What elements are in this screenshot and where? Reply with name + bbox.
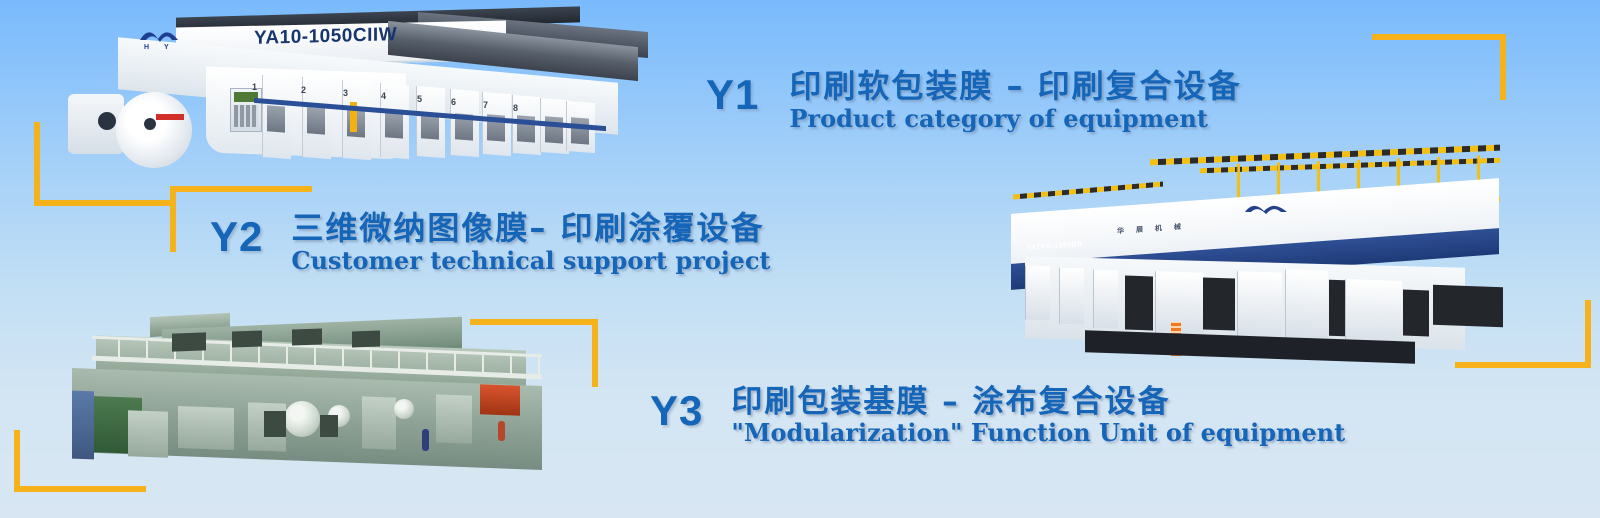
bracket-top-right-vertical — [1500, 34, 1506, 100]
svg-text:Y: Y — [164, 44, 169, 50]
bracket-photo3-top-vertical — [592, 319, 598, 387]
press-reel-hub — [98, 112, 116, 130]
text-group-y1: Y1 印刷软包装膜 – 印刷复合设备 Product category of e… — [706, 70, 1242, 131]
label-y3-code: Y3 — [650, 390, 703, 432]
coater-column — [1237, 271, 1282, 339]
line-cabinet — [362, 396, 396, 449]
press-unit-number: 3 — [343, 88, 348, 98]
press-control-panel — [230, 88, 262, 132]
bracket-middle-left-vertical — [170, 186, 176, 252]
line-cabinet — [178, 406, 234, 450]
label-y1-chinese: 印刷软包装膜 – 印刷复合设备 — [789, 70, 1241, 104]
coater-mechanism — [1403, 290, 1429, 337]
line-operator — [498, 421, 505, 441]
label-y3-english: "Modularization" Function Unit of equipm… — [731, 420, 1345, 445]
coater-column — [1285, 269, 1328, 339]
coater-mechanism — [1203, 277, 1235, 330]
press-red-marker — [156, 114, 184, 120]
label-y1-lines: 印刷软包装膜 – 印刷复合设备 Product category of equi… — [789, 70, 1241, 131]
line-drive-unit — [292, 328, 322, 345]
line-cabinet — [436, 394, 472, 443]
text-group-y2: Y2 三维微纳图像膜– 印刷涂覆设备 Customer technical su… — [210, 212, 771, 273]
press-panel-keypad — [234, 105, 258, 127]
line-red-unit — [480, 384, 520, 415]
line-drive-unit — [172, 332, 206, 351]
coater-column — [1025, 266, 1050, 321]
label-y3-chinese: 印刷包装基膜 – 涂布复合设备 — [731, 386, 1345, 419]
label-y2-lines: 三维微纳图像膜– 印刷涂覆设备 Customer technical suppo… — [291, 212, 770, 273]
press-reel-hub-secondary — [144, 118, 156, 130]
press-unit-number: 2 — [301, 85, 306, 95]
machine-photo-coating-line — [32, 303, 572, 481]
line-operator — [422, 429, 429, 451]
svg-text:H: H — [144, 44, 149, 50]
line-roller — [284, 401, 320, 437]
label-y1-code: Y1 — [706, 74, 759, 116]
press-unit-number: 4 — [381, 91, 386, 101]
label-y2-chinese: 三维微纳图像膜– 印刷涂覆设备 — [291, 212, 770, 246]
press-unit-number: 8 — [513, 103, 518, 113]
label-y1-english: Product category of equipment — [789, 106, 1241, 131]
bracket-top-left-horizontal — [34, 200, 170, 206]
line-blue-column — [72, 391, 94, 460]
press-unit-number: 5 — [417, 94, 422, 104]
coater-column — [1093, 270, 1118, 329]
coater-mechanism — [1329, 280, 1345, 337]
bracket-bottom-left-vertical — [14, 430, 20, 492]
line-roller — [394, 399, 414, 419]
coater-guardrail-left — [1013, 181, 1163, 199]
coater-winder — [1433, 285, 1503, 327]
promo-banner: 1 2 3 4 5 6 7 8 H Y YA10-1050CIIW — [0, 0, 1600, 518]
bracket-top-right-horizontal — [1372, 34, 1506, 40]
press-unit-number: 7 — [483, 100, 488, 110]
line-cabinet — [128, 410, 168, 457]
press-color-unit — [262, 75, 291, 159]
press-color-unit — [302, 77, 331, 159]
press-model-label: YA10-1050CIIW — [254, 24, 397, 50]
label-y2-code: Y2 — [210, 216, 263, 258]
line-drive-unit — [232, 330, 262, 347]
line-drive-unit — [264, 411, 286, 437]
bracket-top-left-vertical — [34, 122, 40, 206]
coater-column — [1059, 268, 1084, 325]
hy-brand-logo-icon: H Y — [138, 28, 182, 50]
bracket-middle-right-vertical — [1585, 300, 1591, 368]
label-y3-lines: 印刷包装基膜 – 涂布复合设备 "Modularization" Functio… — [731, 386, 1345, 445]
bracket-middle-left-horizontal — [170, 186, 312, 192]
line-drive-unit — [320, 415, 338, 437]
machine-photo-rotogravure-press: 1 2 3 4 5 6 7 8 H Y YA10-1050CIIW — [58, 8, 606, 174]
machine-photo-lamination-coater: YATFG-1650BⅡ 华 展 机 械 — [985, 150, 1515, 370]
label-y2-english: Customer technical support project — [291, 248, 770, 273]
press-unit-number: 6 — [451, 97, 456, 107]
coater-mechanism — [1125, 276, 1153, 331]
coater-column — [1345, 279, 1402, 343]
hy-brand-logo-icon — [1243, 202, 1289, 218]
press-unit-number: 1 — [252, 82, 257, 92]
line-drive-unit — [352, 331, 380, 348]
bracket-bottom-left-horizontal — [14, 486, 146, 492]
text-group-y3: Y3 印刷包装基膜 – 涂布复合设备 "Modularization" Func… — [650, 386, 1345, 445]
